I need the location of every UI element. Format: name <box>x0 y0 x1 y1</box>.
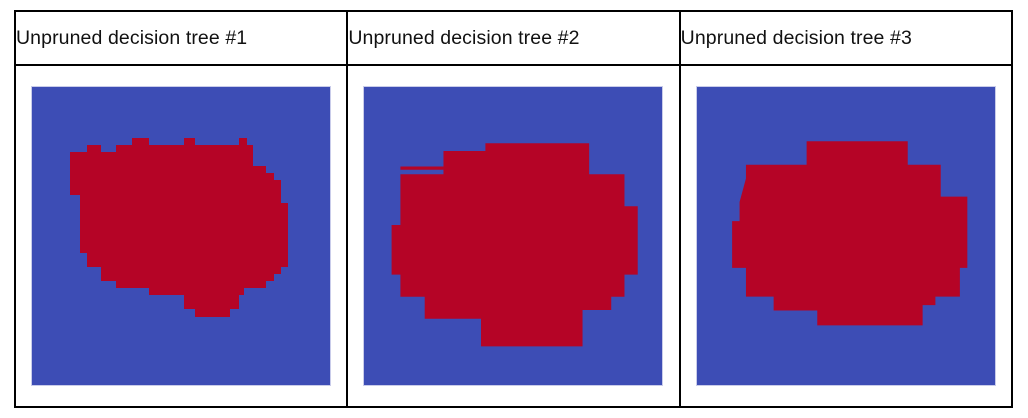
decision-tree-comparison-table: Unpruned decision tree #1 Unpruned decis… <box>14 10 1013 408</box>
panel-cell-1 <box>15 65 347 407</box>
panel-wrap-3 <box>681 66 1011 406</box>
panel-title-2: Unpruned decision tree #2 <box>347 11 679 65</box>
decision-boundary-plot-2 <box>364 87 662 385</box>
thin-red-sliver-2 <box>401 166 444 169</box>
decision-boundary-svg-1 <box>32 87 330 385</box>
panel-cell-3 <box>680 65 1012 407</box>
decision-boundary-svg-3 <box>697 87 995 385</box>
panel-cell-2 <box>347 65 679 407</box>
panel-title-1: Unpruned decision tree #1 <box>15 11 347 65</box>
decision-boundary-plot-1 <box>32 87 330 385</box>
panel-wrap-2 <box>348 66 678 406</box>
panel-wrap-1 <box>16 66 346 406</box>
decision-boundary-svg-2 <box>364 87 662 385</box>
plot-row <box>15 65 1012 407</box>
panel-title-3: Unpruned decision tree #3 <box>680 11 1012 65</box>
decision-boundary-plot-3 <box>697 87 995 385</box>
header-row: Unpruned decision tree #1 Unpruned decis… <box>15 11 1012 65</box>
